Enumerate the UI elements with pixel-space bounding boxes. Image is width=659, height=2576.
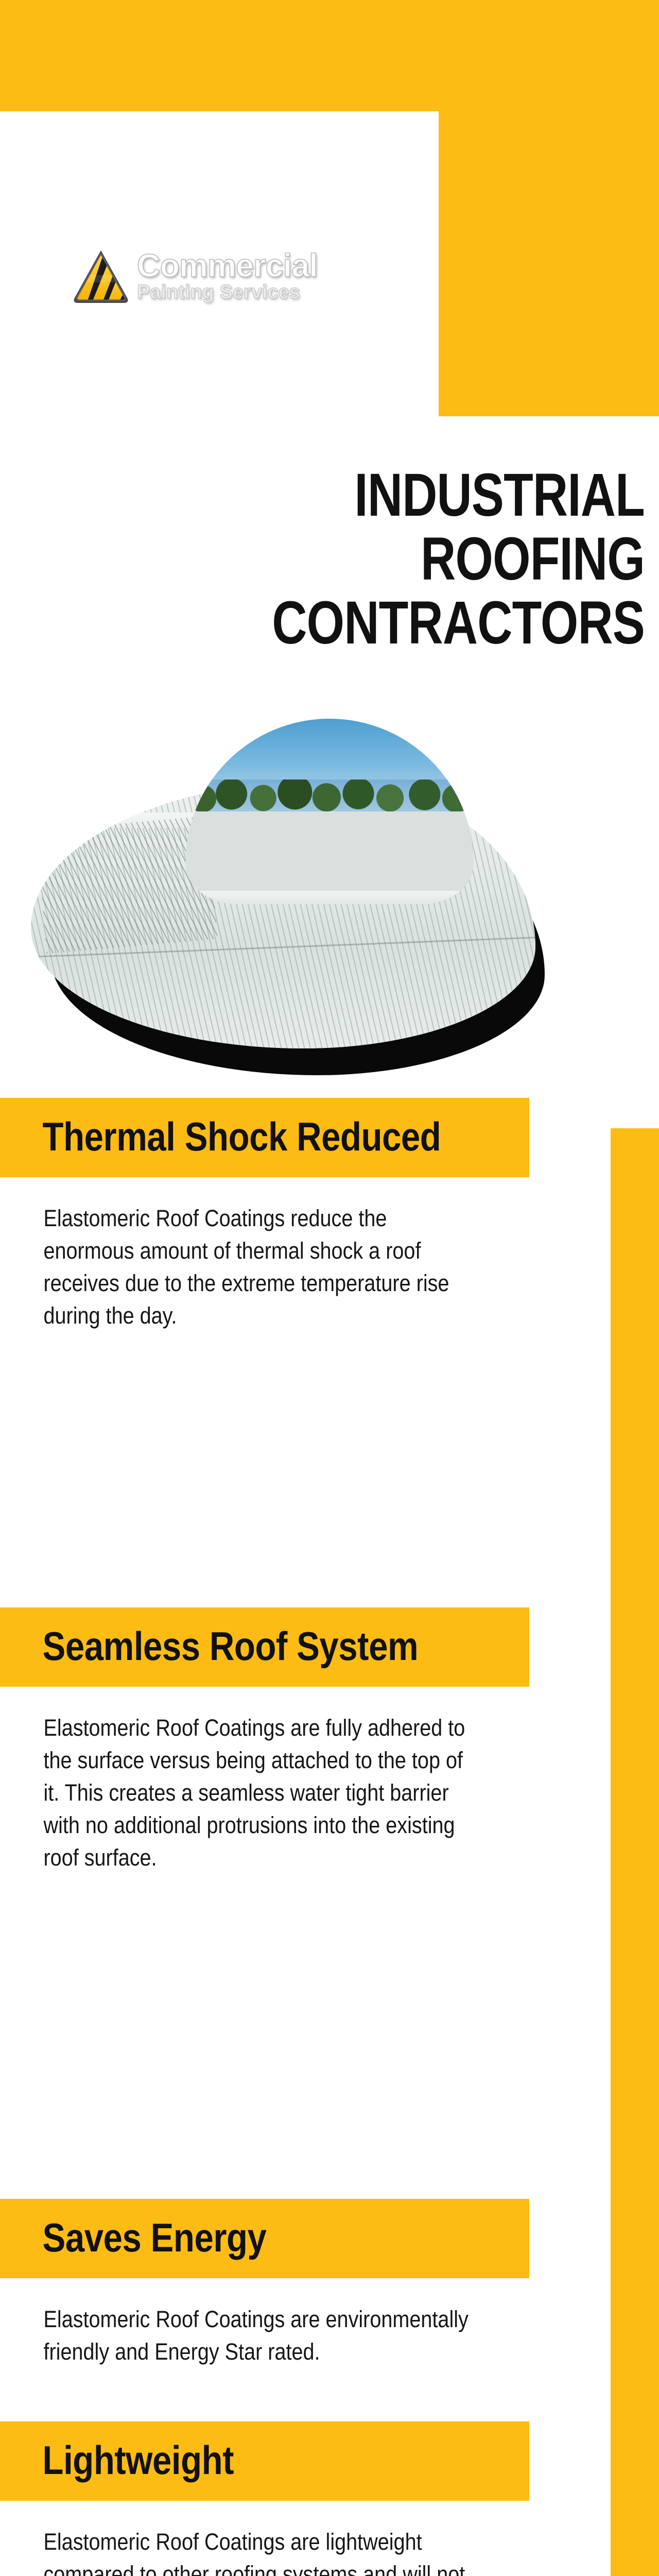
feature-body-1: Elastomeric Roof Coatings reduce the eno… — [0, 1177, 480, 1332]
brand-logo[interactable]: Commercial Painting Services — [72, 232, 391, 322]
feature-heading-box-1: Thermal Shock Reduced — [0, 1098, 529, 1177]
feature-heading-box-4: Lightweight — [0, 2421, 529, 2501]
feature-heading-box-2: Seamless Roof System — [0, 1607, 529, 1687]
striped-triangle-logo-icon — [72, 248, 130, 306]
roof-parapet — [185, 891, 474, 904]
feature-body-2: Elastomeric Roof Coatings are fully adhe… — [0, 1687, 480, 1874]
feature-heading-1: Thermal Shock Reduced — [0, 1098, 455, 1177]
treeline — [185, 779, 474, 811]
feature-body-4: Elastomeric Roof Coatings are lightweigh… — [0, 2501, 480, 2576]
page-title-line-1: INDUSTRIAL — [192, 464, 645, 528]
page-title-line-3: CONTRACTORS — [192, 591, 645, 655]
feature-heading-4: Lightweight — [0, 2421, 455, 2501]
feature-section-3: Saves Energy Elastomeric Roof Coatings a… — [0, 2199, 659, 2368]
feature-heading-3: Saves Energy — [0, 2199, 455, 2278]
brand-name: Commercial — [137, 251, 318, 282]
feature-heading-2: Seamless Roof System — [0, 1607, 455, 1687]
roof-photo-peak — [185, 719, 474, 904]
feature-heading-box-3: Saves Energy — [0, 2199, 529, 2278]
hero-image — [31, 781, 548, 1077]
feature-body-3: Elastomeric Roof Coatings are environmen… — [0, 2278, 480, 2368]
feature-section-1: Thermal Shock Reduced Elastomeric Roof C… — [0, 1098, 659, 1332]
brand-tagline: Painting Services — [137, 282, 318, 303]
feature-section-4: Lightweight Elastomeric Roof Coatings ar… — [0, 2421, 659, 2576]
page-title: INDUSTRIAL ROOFING CONTRACTORS — [192, 464, 645, 655]
page-title-line-2: ROOFING — [192, 528, 645, 591]
header-right-yellow-column — [439, 111, 659, 416]
feature-section-2: Seamless Roof System Elastomeric Roof Co… — [0, 1607, 659, 1874]
header-yellow-band — [0, 0, 659, 111]
